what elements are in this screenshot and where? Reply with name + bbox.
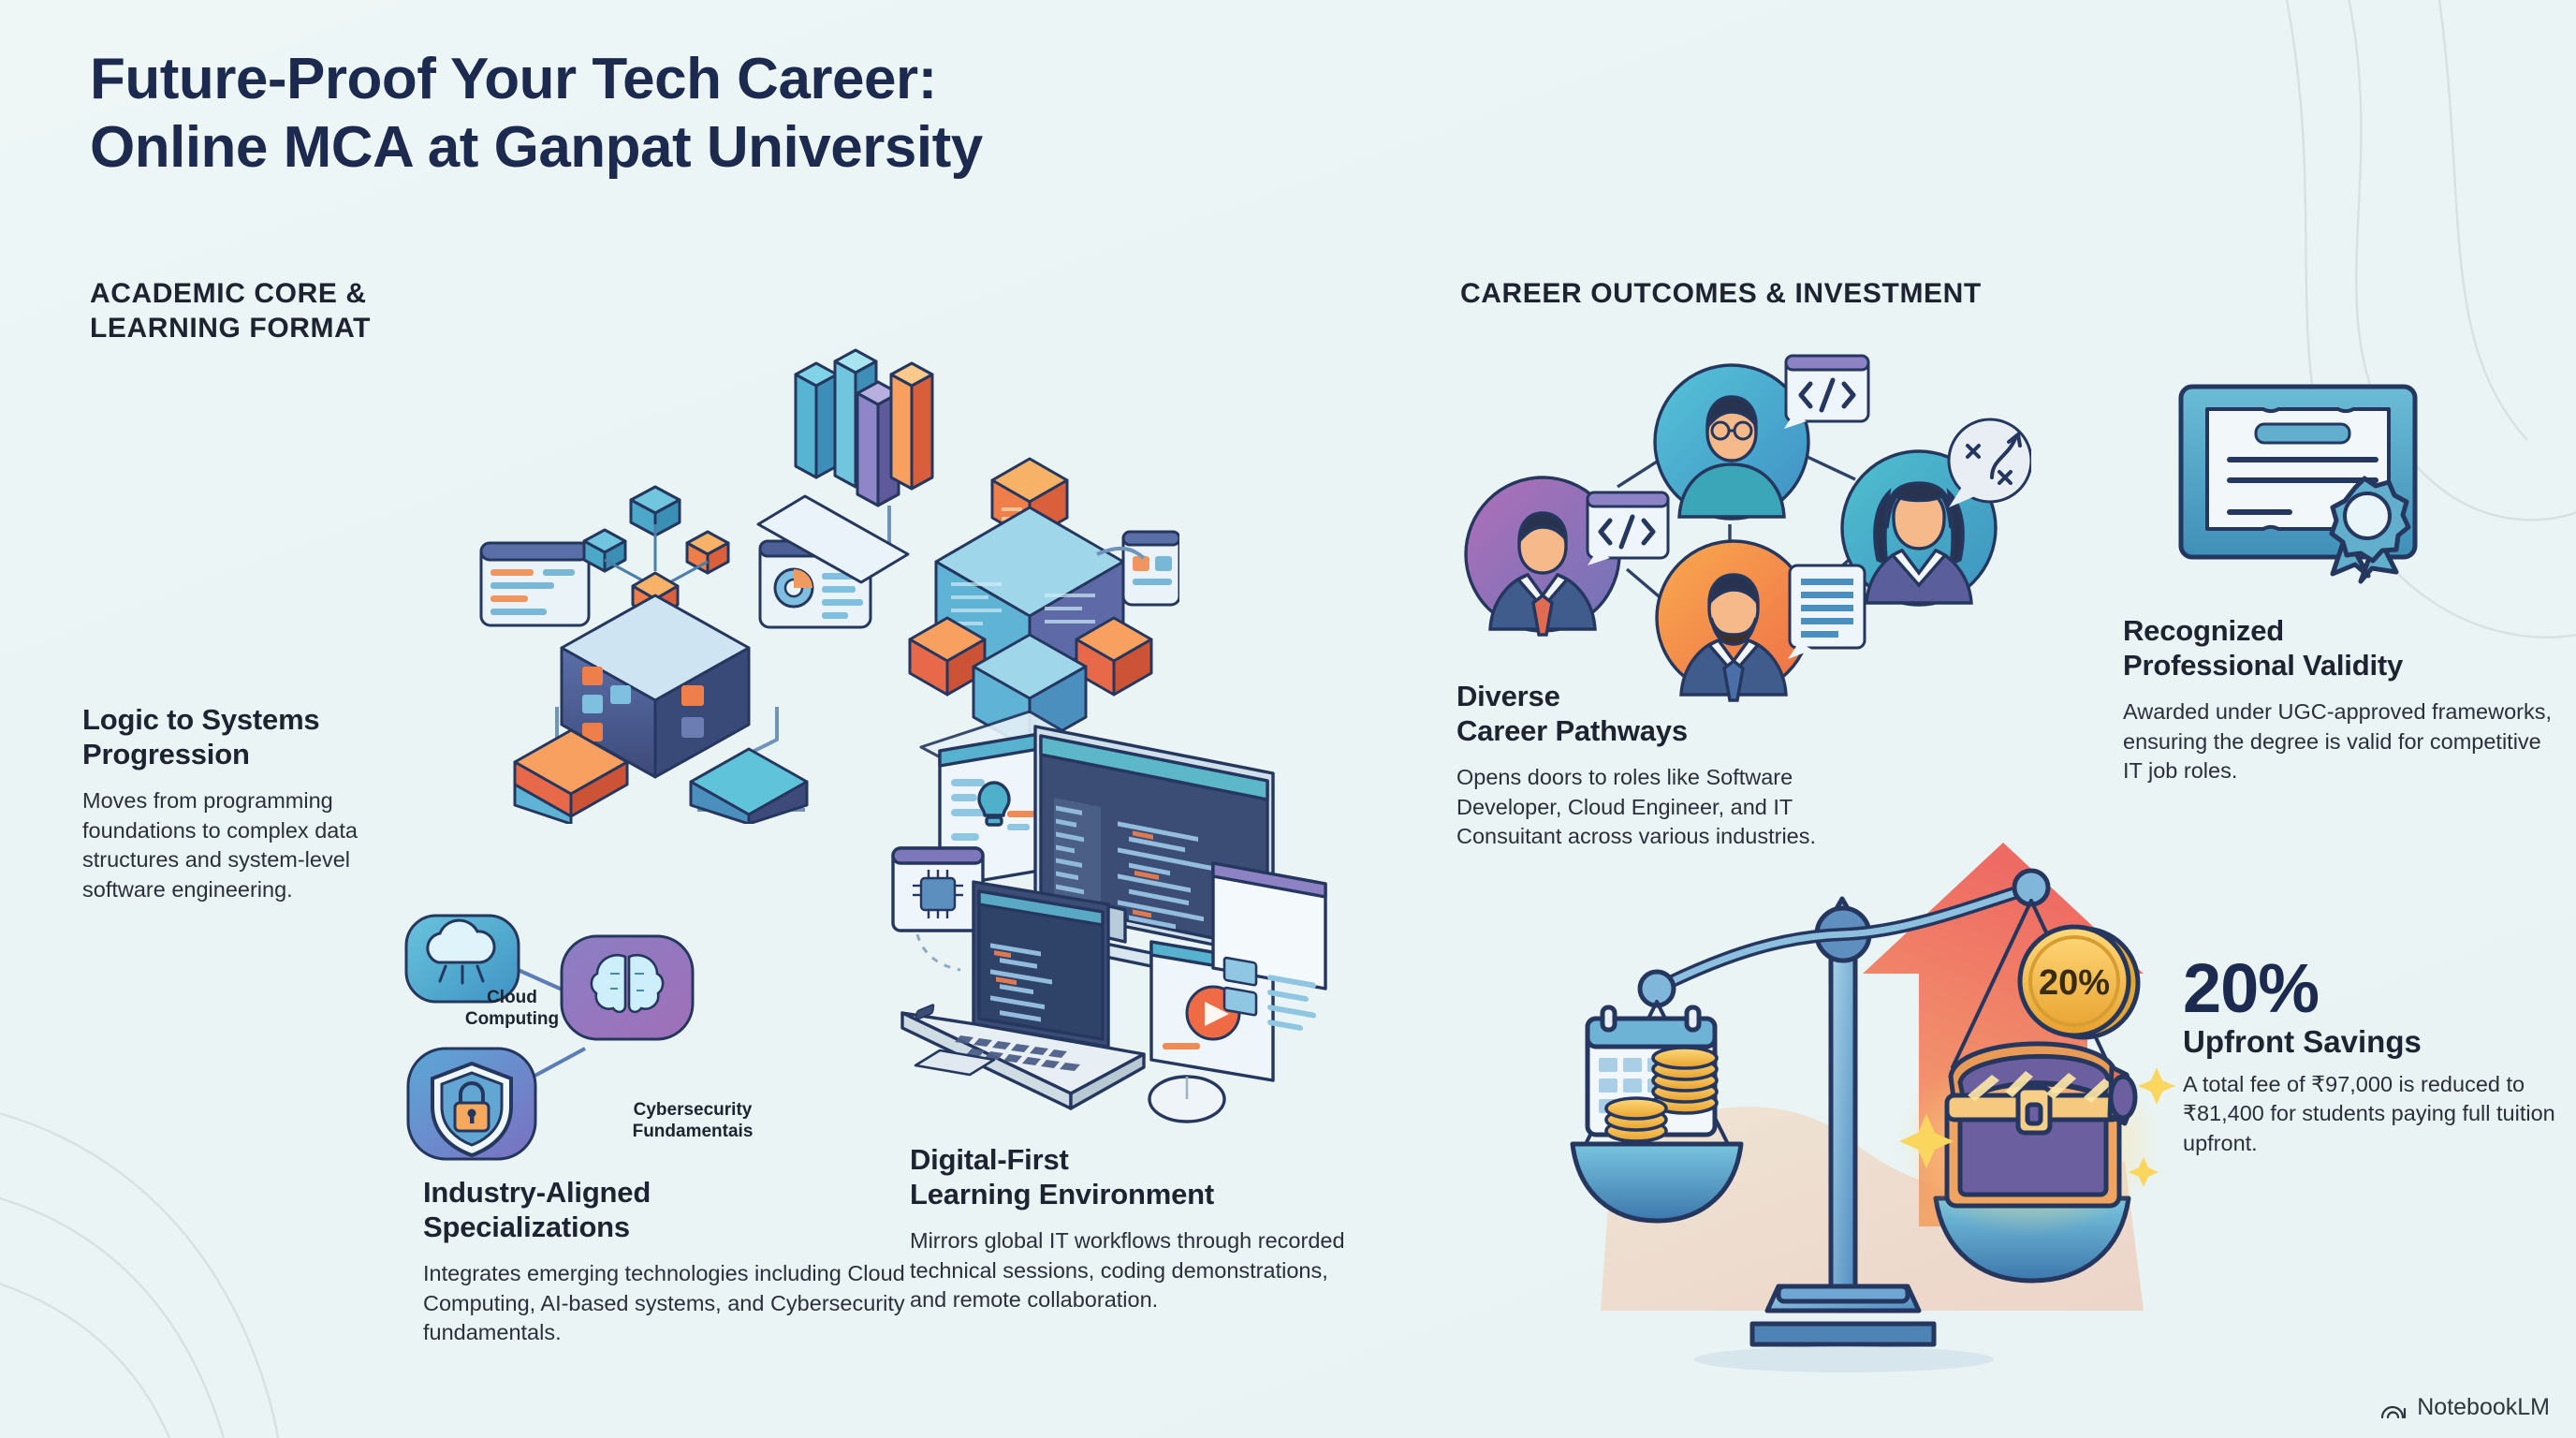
feature-title-diverse-line-2: Career Pathways — [1456, 714, 1688, 747]
feature-title-digital-line-1: Digital-First — [910, 1143, 1069, 1176]
specialization-nodes-illustration — [393, 908, 796, 1189]
feature-body-digital: Mirrors global IT workflows through reco… — [910, 1226, 1350, 1314]
notebooklm-label: NotebookLM — [2417, 1394, 2550, 1421]
feature-block-recognized-validity: Recognized Professional Validity Awarded… — [2123, 613, 2558, 786]
feature-title-diverse: Diverse Career Pathways — [1456, 679, 1887, 748]
feature-title-industry-line-2: Specializations — [423, 1211, 630, 1243]
feature-title-recognized-line-2: Professional Validity — [2123, 649, 2403, 682]
digital-learning-devices-illustration — [871, 721, 1339, 1142]
feature-title-industry-line-1: Industry-Aligned — [423, 1176, 651, 1209]
stat-block-upfront-savings: 20% Upfront Savings A total fee of ₹97,0… — [2183, 955, 2576, 1158]
feature-body-logic: Moves from programming foundations to co… — [82, 786, 438, 904]
feature-block-industry-aligned: Industry-Aligned Specializations Integra… — [423, 1175, 910, 1348]
feature-title-logic-line-1: Logic to Systems — [82, 703, 319, 736]
feature-block-diverse-career: Diverse Career Pathways Opens doors to r… — [1456, 679, 1887, 852]
career-network-illustration — [1432, 337, 2031, 712]
discount-coin: 20% — [2020, 927, 2138, 1037]
page-title: Future-Proof Your Tech Career: Online MC… — [90, 45, 983, 182]
ai-chip-panel-icon — [893, 848, 983, 970]
feature-body-recognized: Awarded under UGC-approved frameworks, e… — [2123, 697, 2558, 785]
feature-title-industry: Industry-Aligned Specializations — [423, 1175, 910, 1244]
certificate-illustration — [2153, 370, 2452, 594]
security-shield-node-icon — [408, 1049, 535, 1159]
feature-title-diverse-line-1: Diverse — [1456, 680, 1560, 712]
page-title-line-2: Online MCA at Ganpat University — [90, 113, 983, 182]
code-bubble-left — [1588, 492, 1668, 565]
label-cloud-line-2: Computing — [432, 1009, 592, 1031]
section-heading-academic-line-2: LEARNING FORMAT — [90, 312, 371, 346]
stat-value-discount: 20% — [2183, 955, 2576, 1023]
fee-balance-illustration: 20% — [1544, 786, 2218, 1386]
strategy-bubble — [1949, 419, 2031, 507]
section-heading-academic: ACADEMIC CORE & LEARNING FORMAT — [90, 277, 371, 345]
feature-title-logic-line-2: Progression — [82, 738, 250, 770]
stat-body-fee-details: A total fee of ₹97,000 is reduced to ₹81… — [2183, 1070, 2576, 1158]
label-cybersecurity: Cybersecurity Fundamentais — [599, 1100, 786, 1143]
dashboard-panel-icon — [1213, 863, 1325, 1031]
stat-label-upfront-savings: Upfront Savings — [2183, 1025, 2576, 1059]
feature-title-recognized: Recognized Professional Validity — [2123, 613, 2558, 682]
page-title-line-1: Future-Proof Your Tech Career: — [90, 45, 983, 113]
avatar-analyst — [1657, 541, 1810, 700]
infographic-canvas: Future-Proof Your Tech Career: Online MC… — [0, 0, 2576, 1438]
label-cloud-computing: Cloud Computing — [432, 988, 592, 1031]
feature-block-logic-to-systems: Logic to Systems Progression Moves from … — [82, 702, 438, 904]
feature-body-diverse: Opens doors to roles like Software Devel… — [1456, 763, 1887, 851]
feature-title-digital: Digital-First Learning Environment — [910, 1142, 1350, 1211]
feature-title-recognized-line-1: Recognized — [2123, 614, 2284, 647]
document-bubble — [1788, 565, 1865, 659]
section-heading-academic-line-1: ACADEMIC CORE & — [90, 277, 371, 312]
coin-percentage-label: 20% — [2039, 963, 2110, 1003]
notebooklm-logo-icon — [2379, 1396, 2408, 1420]
feature-body-industry: Integrates emerging technologies includi… — [423, 1259, 910, 1347]
section-heading-career: CAREER OUTCOMES & INVESTMENT — [1460, 277, 1982, 312]
feature-title-logic: Logic to Systems Progression — [82, 702, 438, 771]
feature-title-digital-line-2: Learning Environment — [910, 1178, 1214, 1211]
code-bubble-top — [1784, 356, 1868, 429]
label-cyber-line-2: Fundamentais — [599, 1122, 786, 1143]
notebooklm-watermark: NotebookLM — [2379, 1394, 2550, 1421]
label-cyber-line-1: Cybersecurity — [599, 1100, 786, 1122]
mouse-icon — [1149, 1077, 1224, 1122]
label-cloud-line-1: Cloud — [432, 988, 592, 1009]
feature-block-digital-first: Digital-First Learning Environment Mirro… — [910, 1142, 1350, 1315]
